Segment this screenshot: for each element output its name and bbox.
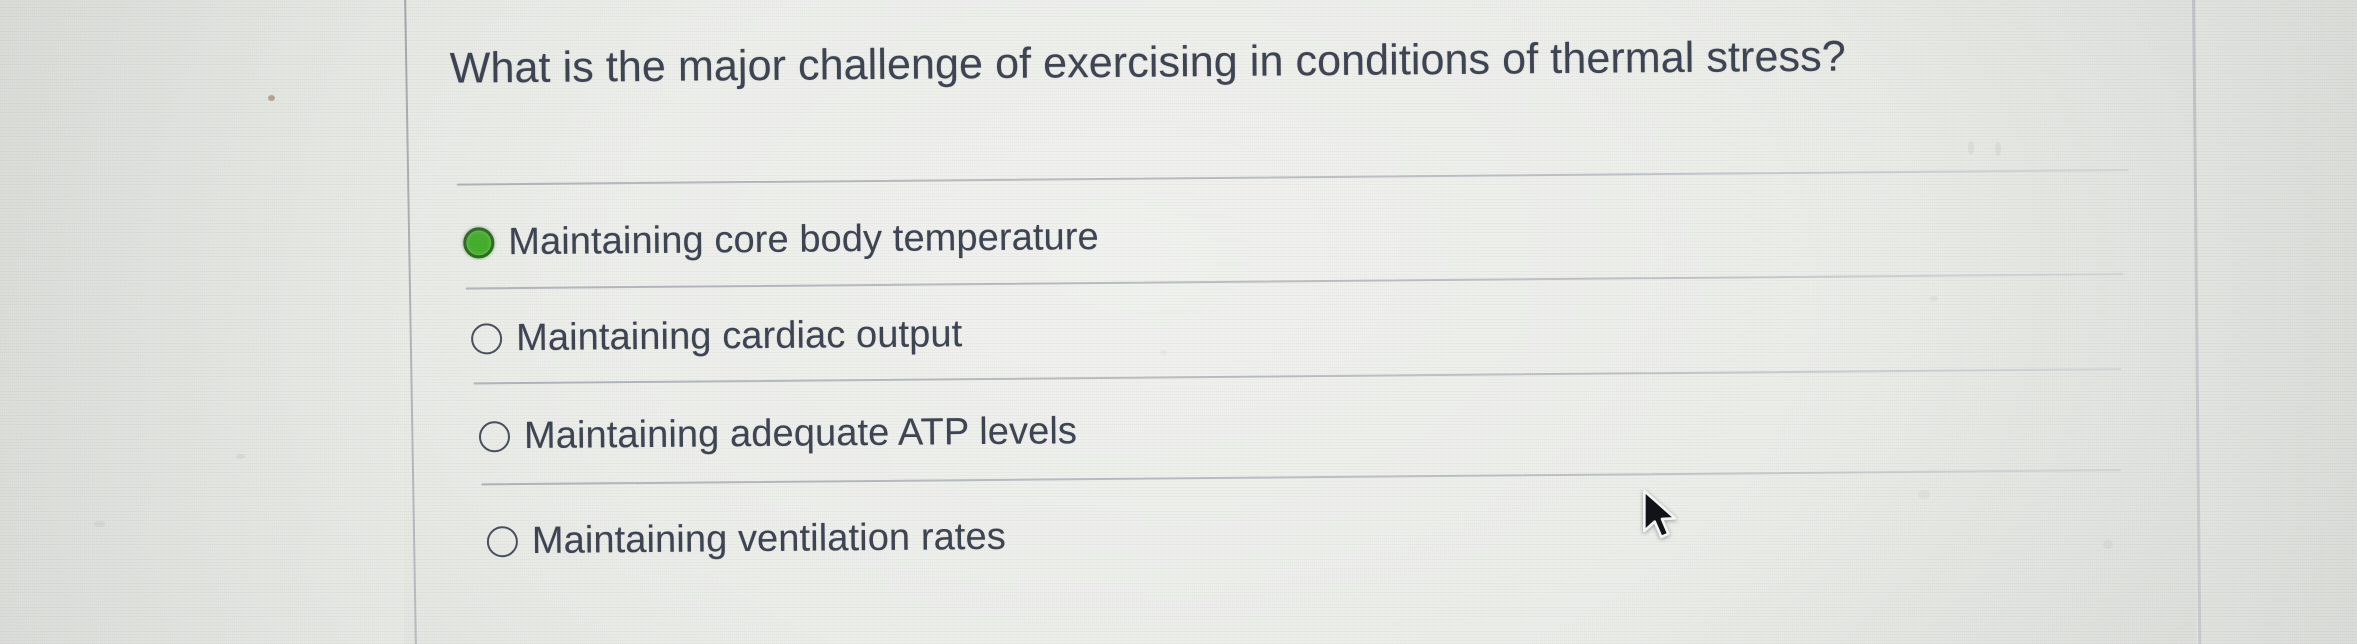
option-row-3[interactable]: Maintaining adequate ATP levels: [479, 412, 1077, 455]
quiz-content-column: What is the major challenge of exercisin…: [0, 0, 2357, 644]
option-label-4: Maintaining ventilation rates: [532, 518, 1006, 560]
option-label-1: Maintaining core body temperature: [508, 218, 1099, 261]
option-row-2[interactable]: Maintaining cardiac output: [471, 315, 963, 357]
mouse-arrow-cursor: [1641, 489, 1681, 543]
question-text: What is the major challenge of exercisin…: [450, 31, 1950, 95]
radio-selected-icon[interactable]: [463, 227, 494, 258]
radio-unselected-icon[interactable]: [471, 323, 502, 354]
option-row-4[interactable]: Maintaining ventilation rates: [487, 518, 1006, 561]
option-row-1[interactable]: Maintaining core body temperature: [463, 218, 1099, 262]
radio-unselected-icon[interactable]: [479, 421, 510, 452]
option-label-2: Maintaining cardiac output: [516, 315, 963, 357]
option-label-3: Maintaining adequate ATP levels: [524, 412, 1077, 455]
radio-unselected-icon[interactable]: [487, 526, 518, 557]
option-divider: [474, 368, 2122, 384]
option-divider: [466, 273, 2124, 289]
option-divider: [481, 469, 2121, 485]
photographed-screen: What is the major challenge of exercisin…: [0, 0, 2357, 644]
option-divider: [457, 169, 2129, 186]
